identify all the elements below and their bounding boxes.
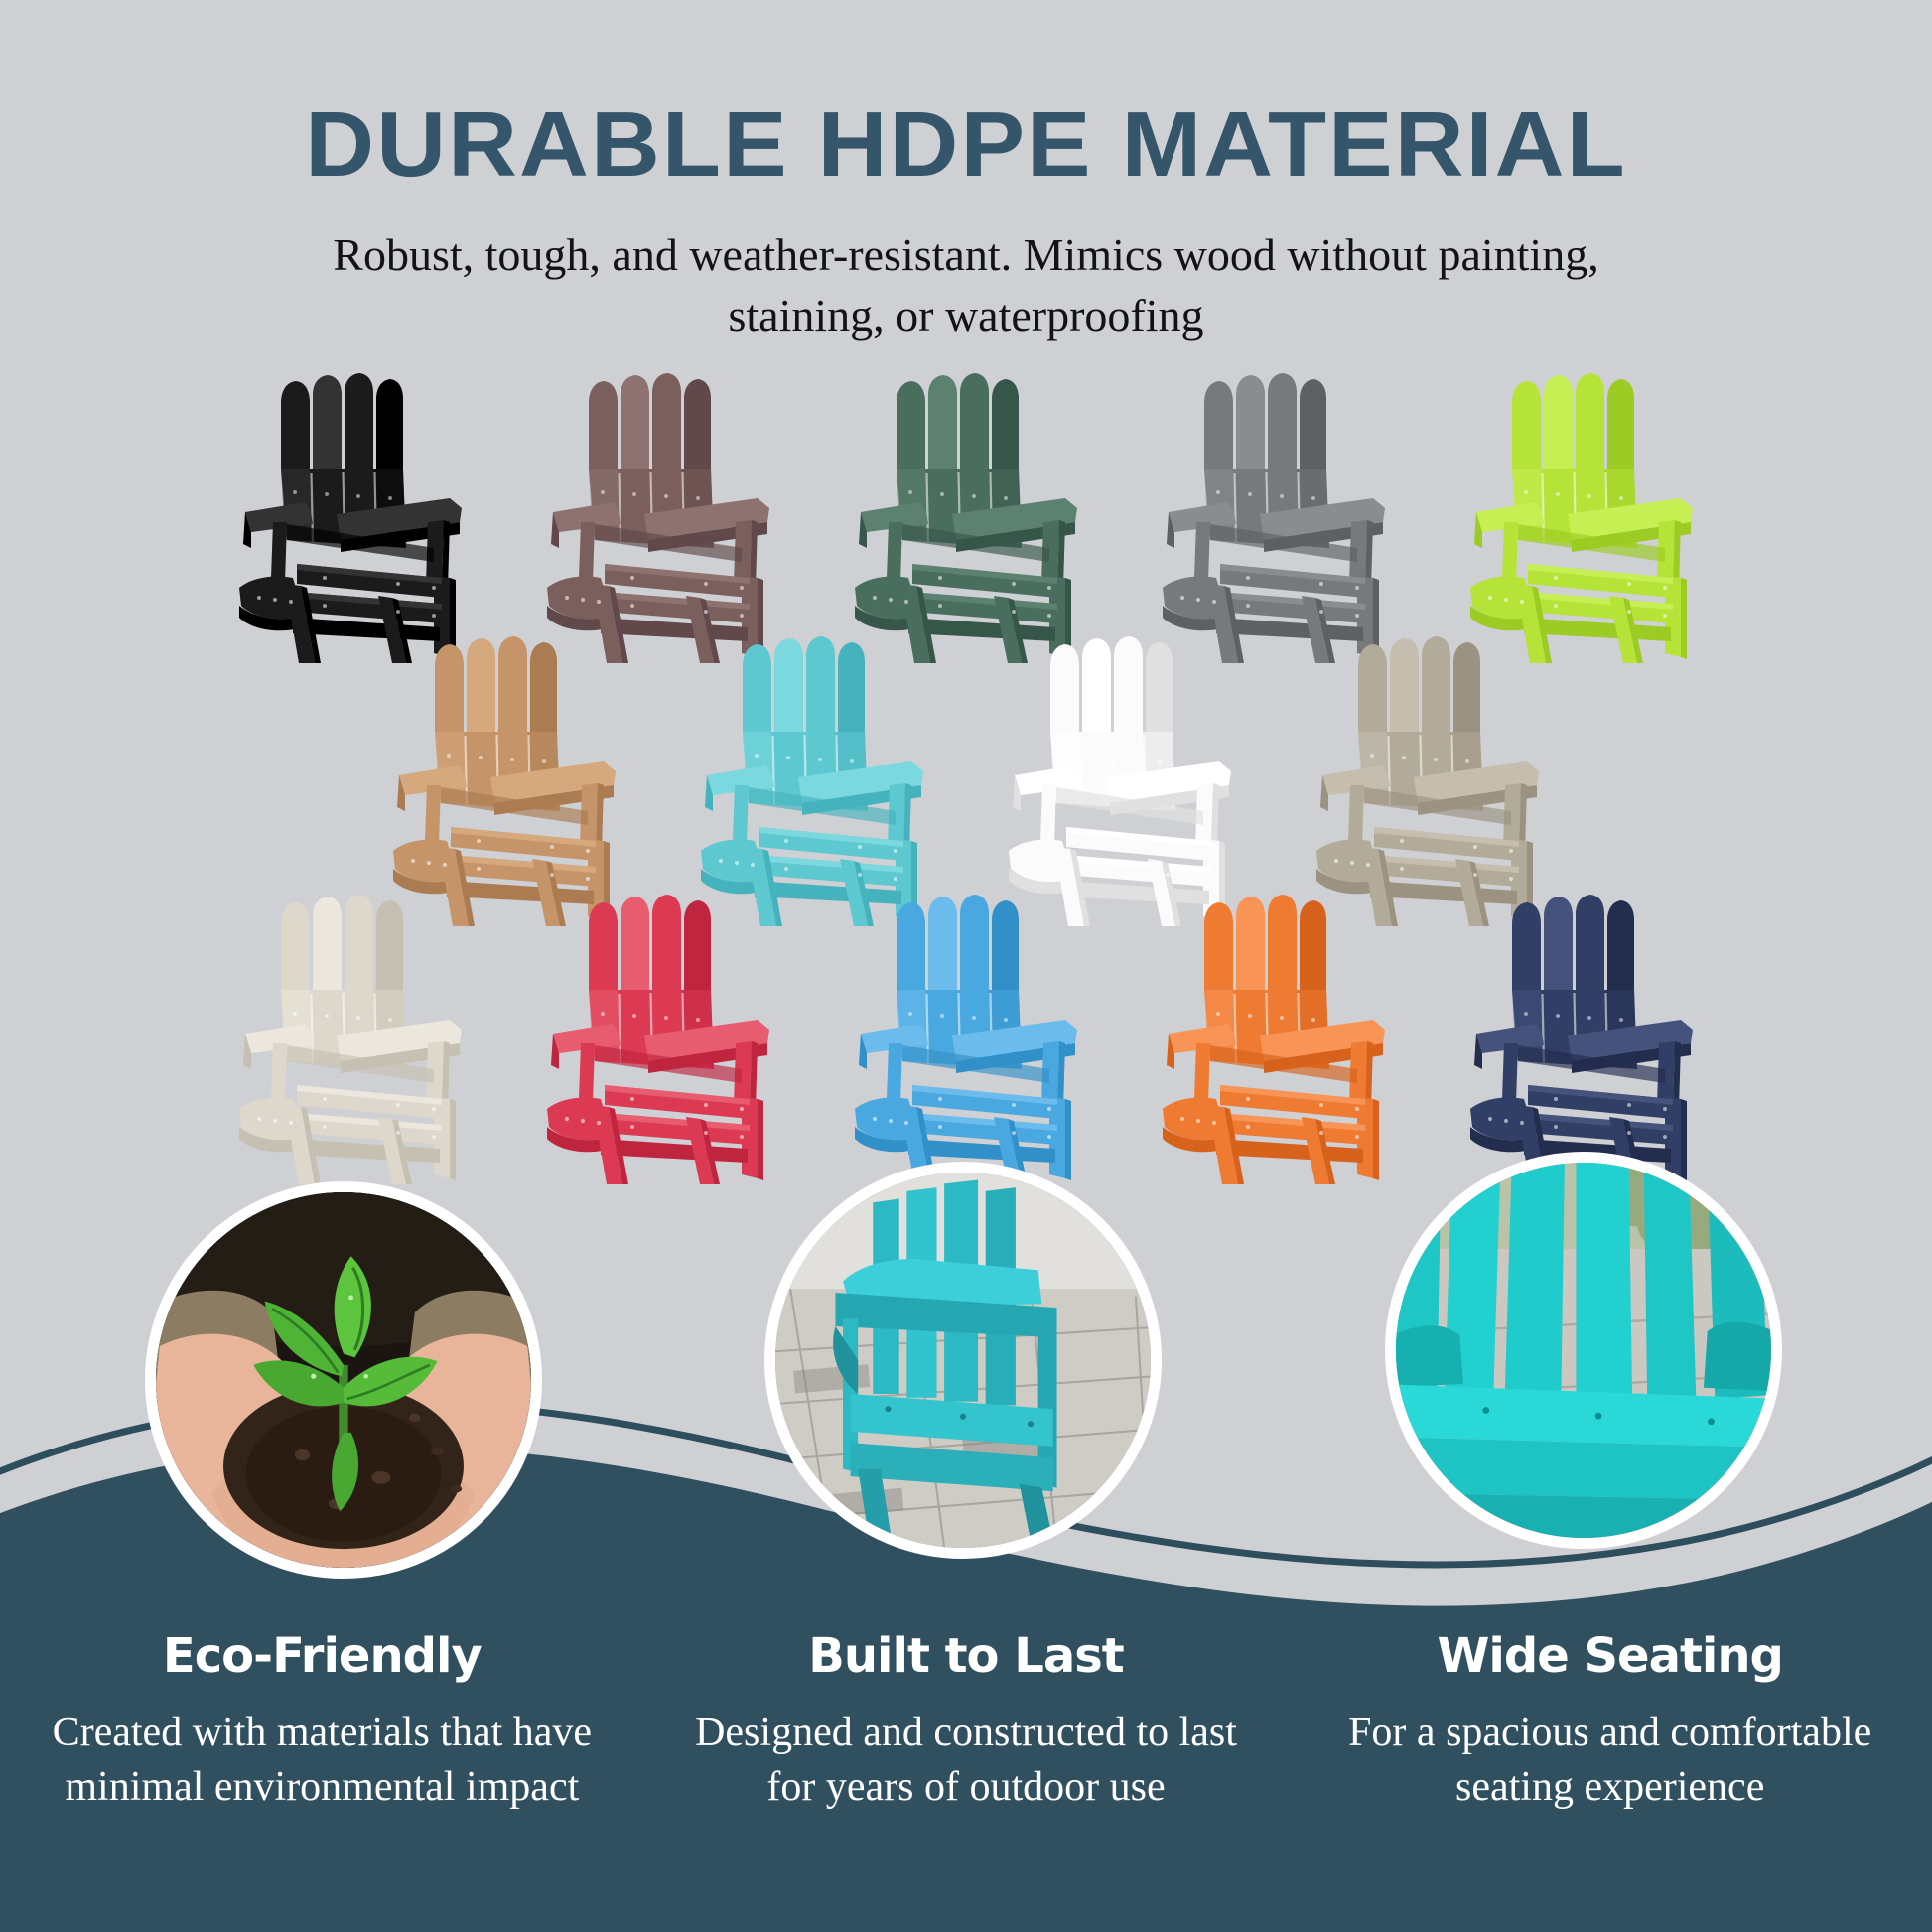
feature-photos [0,1181,1932,1598]
feature-description: Designed and constructed to last for yea… [666,1706,1267,1816]
chair-graphic [1153,895,1395,1184]
header: DURABLE HDPE MATERIAL Robust, tough, and… [0,0,1932,345]
adirondack-chair-icon [1460,373,1703,663]
seat-closeup-illustration [1396,1163,1771,1538]
chair-row-2 [0,630,1932,928]
adirondack-chair-icon [999,636,1241,926]
adirondack-chair-icon [845,373,1087,663]
turquoise-chair-seat-closeup-photo [1385,1152,1782,1549]
feature-built-to-last: Built to Last Designed and constructed t… [644,1628,1289,1816]
feature-title: Eco-Friendly [22,1628,622,1684]
chair-graphic [537,895,779,1184]
chair-color-grid [0,367,1932,1246]
chair-row-3 [0,889,1932,1186]
chair-graphic [383,636,625,926]
chair-swatch-brown[interactable] [504,367,812,665]
feature-description: For a spacious and comfortable seating e… [1310,1706,1910,1816]
feature-eco-friendly: Eco-Friendly Created with materials that… [0,1628,644,1816]
turquoise-chair-patio-photo [764,1162,1162,1559]
hands-holding-seedling-photo [145,1181,542,1579]
adirondack-chair-icon [229,895,472,1184]
patio-chair-illustration [775,1173,1151,1548]
seat-closeup-shape [1396,1163,1771,1538]
chair-swatch-orange[interactable] [1120,889,1428,1186]
chair-swatch-turquoise[interactable] [658,630,966,928]
feature-wide-seating: Wide Seating For a spacious and comforta… [1288,1628,1932,1816]
chair-swatch-dark-green[interactable] [812,367,1120,665]
chair-swatch-navy[interactable] [1428,889,1735,1186]
adirondack-chair-icon [845,895,1087,1184]
chair-swatch-red[interactable] [504,889,812,1186]
chair-graphic [537,373,779,663]
chair-swatch-black[interactable] [197,367,504,665]
chair-graphic [845,895,1087,1184]
chair-graphic [1307,636,1549,926]
feature-title: Built to Last [666,1628,1267,1684]
adirondack-chair-icon [229,373,472,663]
chair-swatch-ivory[interactable] [197,889,504,1186]
seedling-illustration [156,1192,531,1568]
adirondack-chair-icon [537,895,779,1184]
adirondack-chair-icon [1153,373,1395,663]
page-subtitle: Robust, tough, and weather-resistant. Mi… [276,192,1656,345]
page-title: DURABLE HDPE MATERIAL [0,0,1932,192]
adirondack-chair-icon [383,636,625,926]
chair-swatch-gray[interactable] [1120,367,1428,665]
chair-graphic [1153,373,1395,663]
adirondack-chair-icon [1460,895,1703,1184]
chair-swatch-lime-green[interactable] [1428,367,1735,665]
chair-swatch-white[interactable] [966,630,1274,928]
chair-swatch-tan[interactable] [350,630,658,928]
feature-list: Eco-Friendly Created with materials that… [0,1628,1932,1816]
adirondack-chair-icon [1307,636,1549,926]
chair-graphic [845,373,1087,663]
adirondack-chair-icon [537,373,779,663]
feature-description: Created with materials that have minimal… [22,1706,622,1816]
chair-graphic [1460,373,1703,663]
chair-graphic [999,636,1241,926]
adirondack-chair-icon [1153,895,1395,1184]
chair-graphic [229,373,472,663]
chair-graphic [691,636,933,926]
adirondack-chair-icon [691,636,933,926]
chair-swatch-light-blue[interactable] [812,889,1120,1186]
feature-title: Wide Seating [1310,1628,1910,1684]
chair-row-1 [0,367,1932,665]
chair-graphic [1460,895,1703,1184]
chair-swatch-taupe[interactable] [1274,630,1582,928]
chair-graphic [229,895,472,1184]
